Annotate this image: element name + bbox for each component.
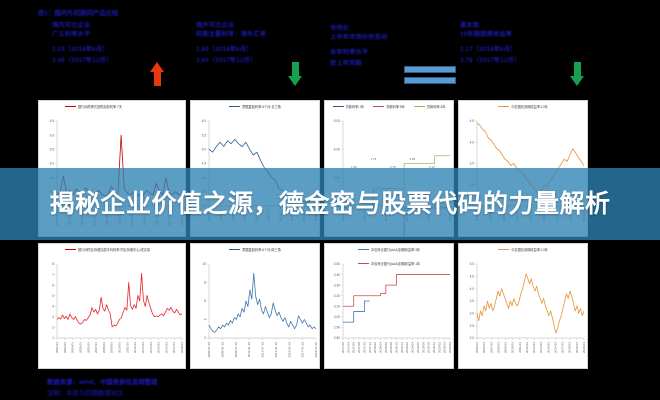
svg-text:2007-03: 2007-03 [94, 342, 98, 353]
svg-text:5.0: 5.0 [202, 148, 207, 152]
chart-6-legend-item-1: 票据直贴利率:6个月:珠三角 [229, 247, 281, 252]
chart-7-series-1 [343, 301, 370, 322]
chart-8-legend-item-1: 中债国债到期收益率:10年 [498, 247, 547, 252]
svg-text:2015-07-10: 2015-07-10 [287, 342, 291, 358]
header-column-3-row-2: 较上年同期 [330, 60, 388, 69]
svg-text:8: 8 [52, 262, 54, 266]
chart-panel-7[interactable]: 中债商业银行(AAA)到期收益率:3年中债商业银行(AAA)到期收益率:1年 3… [324, 243, 454, 369]
header-column-2-title: 境外可比企业 [196, 22, 266, 31]
chart-5-plot: 876543212002-032003-032004-032005-032006… [39, 244, 186, 369]
chart-6-plot: 1086422006-07-102008-01-102009-07-102011… [191, 244, 320, 369]
svg-text:4.5: 4.5 [470, 119, 475, 123]
svg-text:5: 5 [52, 294, 54, 298]
svg-text:5.0: 5.0 [50, 162, 55, 166]
header-column-4-title: 基本面 [460, 22, 520, 31]
title-overlay-band: 揭秘企业价值之源，德金密与股票代码的力量解析 [0, 168, 660, 240]
legend-swatch-icon [414, 106, 425, 108]
svg-text:3.40: 3.40 [334, 273, 340, 277]
svg-text:2009-03: 2009-03 [504, 342, 508, 353]
legend-swatch-icon [358, 249, 369, 251]
svg-text:8: 8 [204, 281, 206, 285]
legend-swatch-icon [358, 263, 369, 265]
svg-text:3.10: 3.10 [334, 304, 340, 308]
page-title: 揭秘企业价值之源，德金密与股票代码的力量解析 [30, 189, 630, 220]
chart-panel-6[interactable]: 票据直贴利率:6个月:珠三角 1086422006-07-102008-01-1… [190, 243, 320, 369]
svg-text:2019-08: 2019-08 [421, 342, 425, 353]
chart-panel-5[interactable]: 银行间同业拆借加权平均利率:同业拆借中心:成交量 876543212002-03… [38, 243, 186, 369]
svg-text:2020-03: 2020-03 [582, 342, 586, 353]
chart-5-legend: 银行间同业拆借加权平均利率:同业拆借中心:成交量 [39, 247, 185, 252]
svg-text:2018-07-10: 2018-07-10 [314, 342, 318, 358]
legend-swatch-icon [498, 249, 509, 251]
svg-text:5.5: 5.5 [202, 133, 207, 137]
chart-8-series-1 [477, 274, 584, 333]
svg-text:2008-03: 2008-03 [496, 342, 500, 353]
chart-7-legend: 中债商业银行(AAA)到期收益率:3年中债商业银行(AAA)到期收益率:1年 [325, 247, 453, 266]
svg-text:2017-02: 2017-02 [341, 342, 345, 353]
footer-source-line: 数据来源：wind，中国债券信息网整理 [47, 377, 157, 386]
svg-text:5.5: 5.5 [50, 148, 55, 152]
legend-label: 中债国债到期收益率:10年 [511, 247, 547, 252]
legend-swatch-icon [373, 106, 384, 108]
legend-swatch-icon [498, 106, 509, 108]
legend-label: 贷款利率:3年 [427, 104, 446, 109]
chart-3-legend: 贷款利率:1年贷款利率:5年贷款利率:3年 [325, 104, 453, 109]
svg-text:2010-03: 2010-03 [511, 342, 515, 353]
svg-text:2006-03: 2006-03 [86, 342, 90, 353]
svg-text:4: 4 [52, 304, 54, 308]
svg-text:2012-03: 2012-03 [525, 342, 529, 353]
header-column-4-row-1: 3.17（2018年6月） [460, 46, 520, 55]
legend-swatch-icon [229, 106, 240, 108]
svg-text:2013-03: 2013-03 [532, 342, 536, 353]
svg-text:3.00: 3.00 [334, 315, 340, 319]
svg-text:2011-03: 2011-03 [125, 342, 129, 353]
svg-text:2011-03: 2011-03 [518, 342, 522, 353]
legend-label: 票据直贴利率:6个月:长三角 [242, 104, 281, 109]
svg-text:2005-03: 2005-03 [78, 342, 82, 353]
svg-text:5.0: 5.0 [470, 262, 475, 266]
svg-text:2019-12: 2019-12 [432, 342, 436, 353]
legend-swatch-icon [229, 249, 240, 251]
arrow-down-icon-1 [288, 62, 302, 86]
svg-text:2: 2 [52, 326, 54, 330]
arrow-up-icon [150, 62, 164, 86]
svg-text:3: 3 [52, 315, 54, 319]
header-column-1-title: 境内可比企业 [52, 22, 112, 31]
svg-text:2009-03: 2009-03 [110, 342, 114, 353]
svg-text:2014-01-10: 2014-01-10 [274, 342, 278, 358]
header-column-2-row-2: 3.60（2017年12月） [196, 57, 266, 66]
svg-text:2019-02: 2019-02 [405, 342, 409, 353]
svg-text:2015-03: 2015-03 [546, 342, 550, 353]
legend-label: 贷款利率:1年 [346, 104, 365, 109]
svg-text:2006-07-10: 2006-07-10 [207, 342, 211, 358]
svg-text:3.20: 3.20 [334, 294, 340, 298]
svg-text:2.5: 2.5 [470, 324, 475, 328]
header-column-1-row-2: 3.48（2017年12月） [52, 57, 112, 66]
svg-text:2003-03: 2003-03 [63, 342, 67, 353]
svg-text:4.0: 4.0 [470, 287, 475, 291]
legend-swatch-icon [65, 106, 76, 108]
svg-text:2017-01-10: 2017-01-10 [301, 342, 305, 358]
svg-text:2017-04: 2017-04 [346, 342, 350, 353]
legend-swatch-icon [65, 249, 76, 251]
header-column-4-row-2: 3.78（2017年12月） [460, 57, 520, 66]
svg-text:2018-08: 2018-08 [389, 342, 393, 353]
header-column-2: 境外可比企业 同期主要利率：境外汇率 3.80（2018年6月） 3.60（20… [196, 22, 266, 66]
svg-text:2007-03: 2007-03 [489, 342, 493, 353]
footer: 数据来源：wind，中国债券信息网整理 注释：本表为同期数据对比 [0, 372, 660, 400]
chart-3-legend-item-2: 贷款利率:5年 [373, 104, 405, 109]
header-column-2-subtitle: 同期主要利率：境外汇率 [196, 31, 266, 40]
chart-7-series-2 [343, 275, 450, 307]
svg-text:7: 7 [52, 273, 54, 277]
svg-text:4.0: 4.0 [470, 140, 475, 144]
svg-text:2018-10: 2018-10 [395, 342, 399, 353]
svg-text:6.0: 6.0 [50, 133, 55, 137]
header-column-4-subtitle: 10年期国债收益率 [460, 31, 520, 40]
chart-6-series-1 [209, 273, 316, 332]
header-column-2-row-1: 3.80（2018年6月） [196, 46, 266, 55]
svg-text:2015-03: 2015-03 [157, 342, 161, 353]
svg-text:3.5: 3.5 [470, 162, 475, 166]
legend-label: 票据直贴利率:6个月:珠三角 [242, 247, 281, 252]
legend-swatch-icon [333, 106, 344, 108]
svg-text:2016-03: 2016-03 [164, 342, 168, 353]
svg-text:2004-03: 2004-03 [71, 342, 75, 353]
chart-3-legend-item-1: 贷款利率:1年 [333, 104, 365, 109]
svg-text:2005-03: 2005-03 [475, 342, 479, 353]
chart-3-legend-item-3: 贷款利率:3年 [414, 104, 446, 109]
svg-text:10: 10 [202, 262, 206, 266]
legend-label: 银行间质押式回购加权利率:7天 [78, 104, 122, 109]
header-column-1-subtitle: 广义利率水平 [52, 31, 112, 40]
chart-1-legend: 银行间质押式回购加权利率:7天 [39, 104, 185, 109]
footer-note-line: 注释：本表为同期数据对比 [47, 388, 124, 397]
svg-text:6.5: 6.5 [50, 119, 55, 123]
svg-text:4.5: 4.5 [470, 275, 475, 279]
svg-text:2012-07-10: 2012-07-10 [261, 342, 265, 358]
svg-text:2014-03: 2014-03 [539, 342, 543, 353]
chart-5-legend-item-1: 银行间同业拆借加权平均利率:同业拆借中心:成交量 [65, 247, 150, 252]
svg-text:2012-03: 2012-03 [133, 342, 137, 353]
svg-text:2.0: 2.0 [470, 336, 475, 340]
legend-label: 中债国债到期收益率:10年 [511, 104, 547, 109]
svg-text:2002-03: 2002-03 [55, 342, 59, 353]
chart-6-legend: 票据直贴利率:6个月:珠三角 [191, 247, 319, 252]
header-column-3-subtitle: 上半年市场价的变动 [330, 34, 388, 43]
report-header: 表1：国内外同期同产品比较 境内可比企业 广义利率水平 3.15（2018年6月… [0, 0, 660, 96]
svg-text:2009-07-10: 2009-07-10 [234, 342, 238, 358]
chart-1-legend-item-1: 银行间质押式回购加权利率:7天 [65, 104, 122, 109]
svg-text:4: 4 [204, 318, 206, 322]
legend-label: 贷款利率:5年 [386, 104, 405, 109]
header-column-1-row-1: 3.15（2018年6月） [52, 46, 112, 55]
svg-text:2014-03: 2014-03 [149, 342, 153, 353]
arrow-down-icon-2 [570, 62, 584, 86]
svg-text:4.5: 4.5 [202, 162, 207, 166]
svg-text:2019-10: 2019-10 [427, 342, 431, 353]
svg-text:2017-12: 2017-12 [368, 342, 372, 353]
svg-text:6: 6 [52, 283, 54, 287]
svg-text:3.25: 3.25 [409, 157, 415, 161]
chart-4-legend: 中债国债到期收益率:10年 [459, 104, 587, 109]
svg-text:2016-03: 2016-03 [553, 342, 557, 353]
svg-text:2020-06: 2020-06 [448, 342, 452, 353]
svg-text:2017-03: 2017-03 [561, 342, 565, 353]
svg-text:2013-03: 2013-03 [141, 342, 145, 353]
svg-text:2019-03: 2019-03 [575, 342, 579, 353]
legend-label: 银行间同业拆借加权平均利率:同业拆借中心:成交量 [78, 247, 150, 252]
svg-text:3.5: 3.5 [470, 299, 475, 303]
chart-8-legend: 中债国债到期收益率:10年 [459, 247, 587, 252]
svg-text:2017-08: 2017-08 [357, 342, 361, 353]
svg-text:2017-06: 2017-06 [352, 342, 356, 353]
svg-text:2019-06: 2019-06 [416, 342, 420, 353]
chart-7-legend-item-1: 中债商业银行(AAA)到期收益率:3年 [358, 247, 420, 252]
svg-text:2.90: 2.90 [334, 326, 340, 330]
svg-text:2017-10: 2017-10 [362, 342, 366, 353]
svg-text:2018-12: 2018-12 [400, 342, 404, 353]
svg-text:2019-04: 2019-04 [411, 342, 415, 353]
svg-text:2006-03: 2006-03 [482, 342, 486, 353]
chart-5-series-1 [57, 273, 182, 327]
svg-text:2008-01-10: 2008-01-10 [220, 342, 224, 358]
svg-text:2020-02: 2020-02 [437, 342, 441, 353]
header-column-3: 市场价 上半年市场价的变动 本年利率水平 较上年同期 [330, 25, 388, 69]
svg-text:2017-03: 2017-03 [172, 342, 176, 353]
legend-label: 中债商业银行(AAA)到期收益率:1年 [371, 261, 420, 266]
svg-text:2018-03: 2018-03 [568, 342, 572, 353]
svg-text:2: 2 [204, 336, 206, 340]
svg-text:6.0: 6.0 [202, 119, 207, 123]
svg-text:2.80: 2.80 [334, 336, 340, 340]
svg-text:3.30: 3.30 [334, 283, 340, 287]
chart-7-legend-item-2: 中债商业银行(AAA)到期收益率:1年 [358, 261, 420, 266]
svg-text:2018-06: 2018-06 [384, 342, 388, 353]
chart-2-legend: 票据直贴利率:6个月:长三角 [191, 104, 319, 109]
svg-text:2020-04: 2020-04 [443, 342, 447, 353]
svg-text:2018-03: 2018-03 [180, 342, 184, 353]
svg-text:1: 1 [52, 336, 54, 340]
svg-text:2018-04: 2018-04 [378, 342, 382, 353]
report-header-label: 表1：国内外同期同产品比较 [38, 8, 118, 17]
svg-text:2008-03: 2008-03 [102, 342, 106, 353]
header-column-1: 境内可比企业 广义利率水平 3.15（2018年6月） 3.48（2017年12… [52, 22, 112, 66]
svg-text:2010-03: 2010-03 [118, 342, 122, 353]
chart-8-plot: 5.04.54.03.53.02.52.02005-032006-032007-… [459, 244, 588, 369]
chart-4-legend-item-1: 中债国债到期收益率:10年 [498, 104, 547, 109]
svg-text:6: 6 [204, 299, 206, 303]
svg-text:2011-01-10: 2011-01-10 [247, 342, 251, 357]
screenshot-root: 表1：国内外同期同产品比较 境内可比企业 广义利率水平 3.15（2018年6月… [0, 0, 660, 400]
chart-2-legend-item-1: 票据直贴利率:6个月:长三角 [229, 104, 281, 109]
header-column-4: 基本面 10年期国债收益率 3.17（2018年6月） 3.78（2017年12… [460, 22, 520, 66]
flat-bars-icon [404, 66, 456, 84]
header-column-3-title: 市场价 [330, 25, 388, 34]
legend-label: 中债商业银行(AAA)到期收益率:3年 [371, 247, 420, 252]
svg-text:1.75: 1.75 [370, 157, 376, 161]
header-column-3-row-1: 本年利率水平 [330, 49, 388, 58]
svg-text:5.00: 5.00 [334, 119, 340, 123]
svg-text:3.0: 3.0 [470, 312, 475, 316]
svg-text:4.00: 4.00 [334, 148, 340, 152]
chart-panel-8[interactable]: 中债国债到期收益率:10年 5.04.54.03.53.02.52.02005-… [458, 243, 588, 369]
svg-text:2018-02: 2018-02 [373, 342, 377, 353]
